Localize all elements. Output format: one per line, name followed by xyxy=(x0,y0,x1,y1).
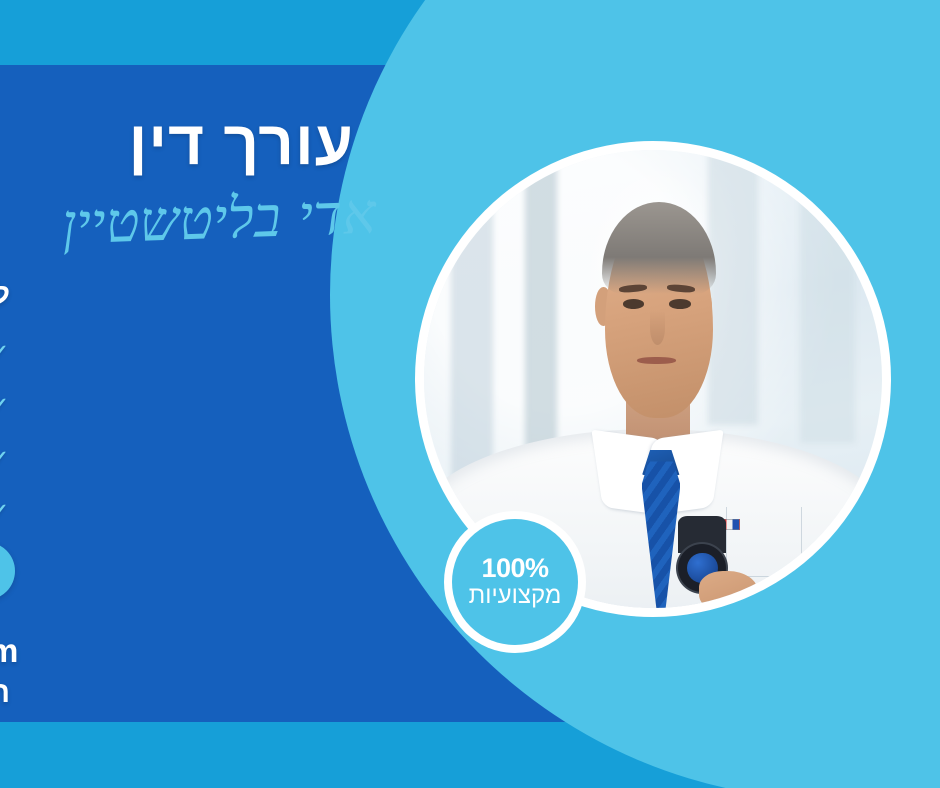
advertisement-banner: 100% מקצועיות עורך דין אדי בליטשטיין למה… xyxy=(0,0,940,788)
list-item: ✓ יחס אישי ואדיב לכל לקוח xyxy=(0,432,10,485)
benefits-list: ✓ ידע משפטי נרחב ✓ ניסיון רב מאוד במאות … xyxy=(0,326,10,538)
website-url[interactable]: www.blitshtein-law.com xyxy=(0,632,18,670)
check-icon: ✓ xyxy=(0,446,10,472)
check-icon: ✓ xyxy=(0,393,10,419)
lawyer-name: אדי בליטשטיין xyxy=(61,187,377,254)
check-icon: ✓ xyxy=(0,340,10,366)
check-icon: ✓ xyxy=(0,499,10,525)
office-address: רח' ההגנה 13, ראשון לציון (מגדל ירון מיל… xyxy=(0,676,10,710)
list-item: ✓ ידע משפטי נרחב xyxy=(0,326,10,379)
page-title: עורך דין xyxy=(129,113,354,175)
call-phone-button[interactable]: 03-6427876 xyxy=(0,542,15,600)
content-layer: עורך דין אדי בליטשטיין למה פונים דווקא ל… xyxy=(0,0,940,788)
list-item: ✓ הצלחות מוכחות בבתי משפט xyxy=(0,485,10,538)
list-item: ✓ ניסיון רב מאוד במאות תיקים xyxy=(0,379,10,432)
subheading: למה פונים דווקא למשרדנו? xyxy=(0,278,10,312)
